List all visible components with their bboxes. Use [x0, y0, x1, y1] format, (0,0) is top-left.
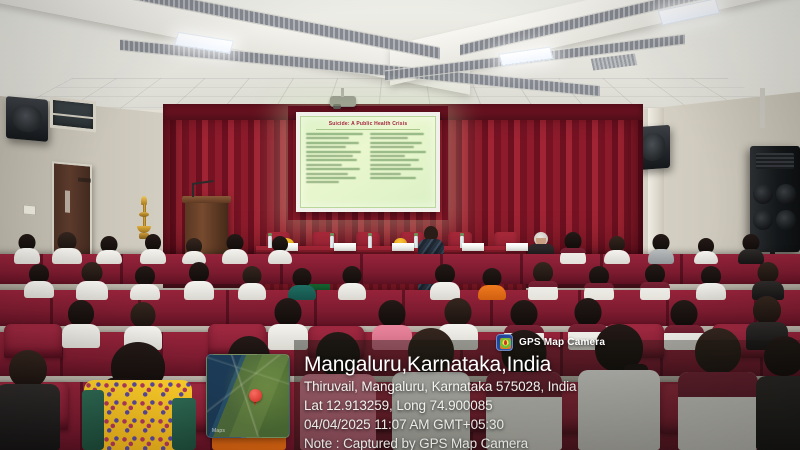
person-torso [140, 249, 166, 264]
person-head [435, 264, 455, 284]
audience-person [52, 232, 82, 264]
audience-person [338, 266, 366, 300]
person-head [275, 298, 302, 326]
person-torso [24, 281, 54, 298]
person-torso [300, 374, 376, 450]
person-torso [694, 251, 718, 264]
ceiling-air-diffuser [591, 53, 638, 70]
person-torso [268, 250, 292, 264]
person-torso [560, 248, 586, 264]
window [50, 97, 96, 133]
slide-title: Suicide: A Public Health Crisis [301, 121, 435, 127]
person-head [445, 298, 472, 326]
person-torso [486, 372, 562, 450]
slide-column-right [370, 133, 430, 186]
slide-columns [301, 133, 435, 186]
person-head [68, 300, 94, 327]
person-torso [696, 283, 726, 300]
ceiling-projector [330, 96, 356, 107]
auditorium-photo: Suicide: A Public Health Crisis [0, 0, 800, 450]
person-head [82, 262, 103, 283]
audience-person [184, 262, 214, 300]
person-torso [528, 281, 558, 300]
person-torso [604, 250, 630, 264]
audience-person [528, 262, 558, 300]
person-torso [222, 249, 248, 264]
lamp-disc [139, 212, 149, 217]
person-torso [212, 376, 286, 450]
saree-pallu [172, 398, 196, 450]
audience-person [696, 266, 726, 300]
person-torso [184, 281, 214, 300]
audience-person [560, 232, 586, 264]
speaker-cone [753, 210, 773, 230]
podium-microphone [192, 183, 214, 197]
person-head [758, 262, 779, 283]
audience-person [76, 262, 108, 300]
audience-person [140, 234, 166, 264]
audience-person-foreground [0, 350, 60, 450]
slide-title-rule [316, 129, 421, 130]
audience-person-foreground [300, 332, 376, 450]
audience-person-foreground [578, 324, 660, 450]
person-head [316, 332, 360, 376]
person-torso [578, 370, 660, 450]
person-head [502, 330, 547, 375]
audience-person [130, 266, 160, 300]
person-head [131, 302, 156, 328]
audience-person [648, 234, 674, 264]
audience-person-foreground [756, 336, 800, 450]
person-torso [130, 284, 160, 300]
person-head [379, 300, 406, 327]
audience-person-foreground [84, 342, 192, 450]
person-head [575, 298, 602, 326]
presentation-slide: Suicide: A Public Health Crisis [300, 116, 436, 208]
audience-person [222, 234, 248, 264]
person-head [511, 300, 538, 327]
person-torso [76, 281, 108, 300]
audience-person [584, 266, 614, 300]
slide-column-left [306, 133, 366, 186]
person-torso [756, 376, 800, 450]
speaker-cone [776, 184, 796, 204]
speaker-horn [756, 153, 794, 169]
audience-person [24, 264, 54, 298]
audience-person [694, 238, 718, 264]
audience-person-foreground [392, 328, 470, 450]
audience-person [238, 266, 266, 300]
person-torso [478, 285, 506, 300]
person-torso [678, 372, 758, 450]
person-head [764, 336, 800, 376]
audience-person [268, 236, 292, 264]
projection-screen: Suicide: A Public Health Crisis [296, 112, 440, 212]
saree-pallu [82, 390, 104, 450]
person-head [645, 264, 665, 284]
person-head [671, 300, 698, 327]
audience-person [640, 264, 670, 300]
audience-person [96, 236, 122, 264]
audience-person [430, 264, 460, 300]
light-switch-plate[interactable] [23, 204, 36, 215]
person-head [228, 336, 270, 378]
person-torso [338, 283, 366, 300]
person-head [9, 350, 47, 388]
person-head [189, 262, 209, 283]
audience-person [62, 300, 100, 348]
audience-person [738, 234, 764, 264]
ceiling-mount-pole [760, 88, 765, 128]
person-torso [238, 283, 266, 300]
audience-person [752, 262, 784, 300]
person-torso [640, 282, 670, 300]
audience-person-foreground [678, 328, 758, 450]
speaker-cone [776, 210, 796, 230]
audience-person [14, 234, 40, 264]
person-head [408, 328, 454, 374]
audience-area [0, 232, 800, 450]
person-torso [392, 372, 470, 450]
audience-person-foreground [486, 330, 562, 450]
audience-person [288, 268, 316, 300]
person-head [753, 296, 781, 324]
audience-person [478, 268, 506, 300]
person-torso [648, 249, 674, 264]
audience-person [182, 238, 206, 264]
speaker-cone [753, 184, 773, 204]
person-torso [14, 248, 40, 264]
audience-person-foreground [212, 336, 286, 450]
person-head [533, 262, 553, 283]
wall-speaker-left [6, 96, 48, 142]
person-head [695, 328, 741, 374]
audience-person [604, 236, 630, 264]
person-torso [0, 384, 60, 450]
